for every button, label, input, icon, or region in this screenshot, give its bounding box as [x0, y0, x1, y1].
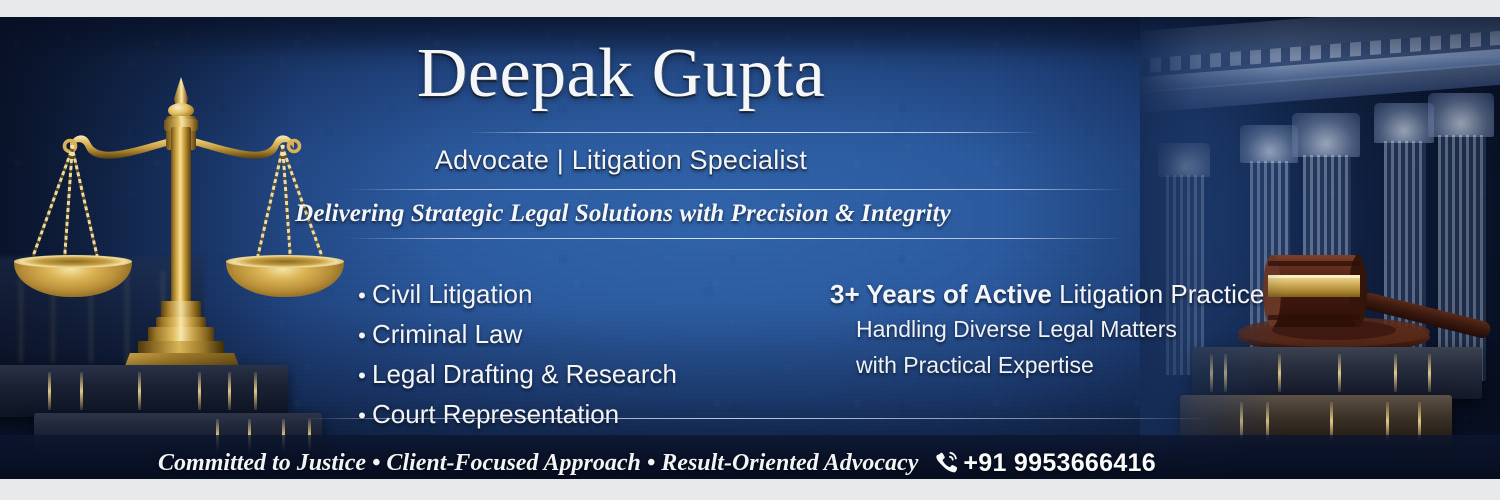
practice-area-label: Criminal Law	[372, 319, 522, 349]
banner-page: Deepak Gupta Advocate | Litigation Speci…	[0, 0, 1500, 500]
practice-areas-list: •Civil Litigation •Criminal Law •Legal D…	[352, 275, 677, 435]
banner-content: Deepak Gupta Advocate | Litigation Speci…	[0, 17, 1500, 479]
practice-area-label: Court Representation	[372, 399, 619, 429]
experience-block: 3+ Years of Active Litigation Practice H…	[830, 277, 1250, 383]
experience-headline-rest: Litigation Practice	[1052, 279, 1264, 309]
advocate-subtitle: Advocate | Litigation Specialist	[0, 143, 1500, 177]
legal-services-banner: Deepak Gupta Advocate | Litigation Speci…	[0, 17, 1500, 479]
footer-row: Committed to Justice • Client-Focused Ap…	[0, 447, 1500, 479]
experience-subline-2: with Practical Expertise	[856, 347, 1250, 383]
phone-contact[interactable]: +91 9953666416	[934, 448, 1156, 478]
list-item: •Civil Litigation	[352, 275, 677, 315]
experience-years: 3+ Years of Active	[830, 279, 1052, 309]
advocate-name: Deepak Gupta	[0, 35, 1500, 113]
tagline: Delivering Strategic Legal Solutions wit…	[0, 195, 1500, 233]
tagline-divider-top	[348, 189, 1124, 190]
core-values-text: Committed to Justice • Client-Focused Ap…	[158, 447, 918, 479]
list-item: •Criminal Law	[352, 315, 677, 355]
practice-area-label: Legal Drafting & Research	[372, 359, 677, 389]
phone-call-icon[interactable]	[934, 450, 960, 476]
experience-subline-1: Handling Diverse Legal Matters	[856, 311, 1250, 347]
list-item: •Legal Drafting & Research	[352, 355, 677, 395]
bullet-icon: •	[352, 317, 372, 355]
name-divider	[468, 132, 1040, 133]
list-item: •Court Representation	[352, 395, 677, 435]
bullet-icon: •	[352, 397, 372, 435]
footer-divider	[300, 418, 1210, 419]
bullet-icon: •	[352, 277, 372, 315]
tagline-divider-bottom	[348, 238, 1124, 239]
practice-area-label: Civil Litigation	[372, 279, 532, 309]
bullet-icon: •	[352, 357, 372, 395]
experience-headline: 3+ Years of Active Litigation Practice	[830, 277, 1250, 311]
phone-number[interactable]: +91 9953666416	[963, 448, 1156, 478]
